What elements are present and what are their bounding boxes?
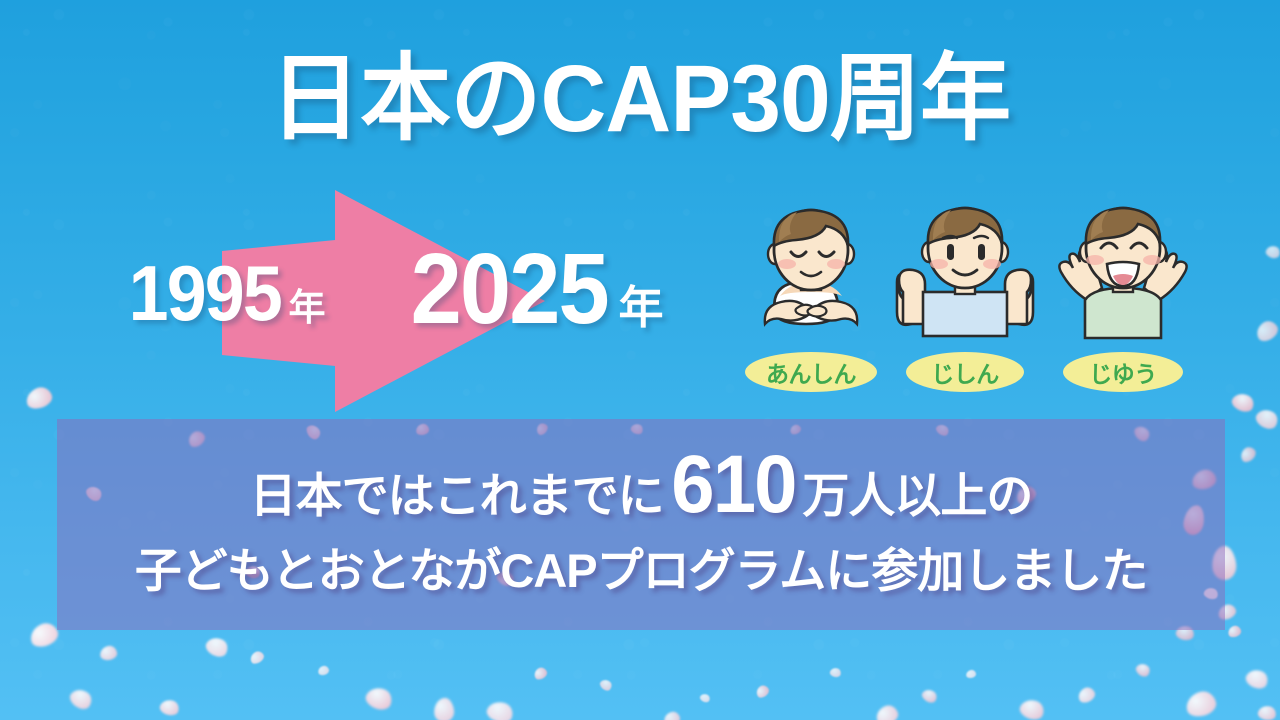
year-to-suffix: 年 (618, 271, 663, 336)
year-from-suffix: 年 (289, 277, 326, 331)
year-to-number: 2025 (411, 248, 608, 330)
year-to: 2025 年 (402, 248, 663, 336)
stat-prefix: 日本ではこれまでに (250, 457, 664, 526)
year-from-number: 1995 (129, 262, 281, 326)
stat-highlight-number: 610 (671, 448, 795, 522)
character-anshin-label: あんしん (745, 352, 877, 392)
page-title: 日本のCAP30周年 (26, 52, 1255, 147)
character-jiyuu: じゆう (1047, 196, 1199, 392)
character-jishin-label: じしん (906, 352, 1024, 392)
stat-line-2-text: 子どもとおとながCAPプログラムに参加しました (135, 532, 1147, 601)
character-anshin: あんしん (735, 196, 887, 392)
character-jiyuu-illustration (1047, 196, 1199, 356)
character-group: あんしん (735, 196, 1205, 392)
character-anshin-illustration (735, 196, 887, 356)
stat-banner-line-2: 子どもとおとながCAPプログラムに参加しました (135, 532, 1147, 601)
stat-banner: 日本ではこれまでに 610 万人以上の 子どもとおとながCAPプログラムに参加し… (57, 419, 1225, 630)
year-from: 1995 年 (122, 262, 326, 331)
character-jishin-illustration (889, 196, 1041, 356)
stat-banner-text: 日本ではこれまでに 610 万人以上の 子どもとおとながCAPプログラムに参加し… (57, 419, 1225, 630)
character-jiyuu-label: じゆう (1063, 352, 1183, 392)
stat-suffix: 万人以上の (802, 457, 1032, 526)
stat-banner-line-1: 日本ではこれまでに 610 万人以上の (250, 448, 1033, 526)
poster-stage: 日本のCAP30周年 1995 年 2025 年 (0, 0, 1280, 720)
character-jishin: じしん (889, 196, 1041, 392)
